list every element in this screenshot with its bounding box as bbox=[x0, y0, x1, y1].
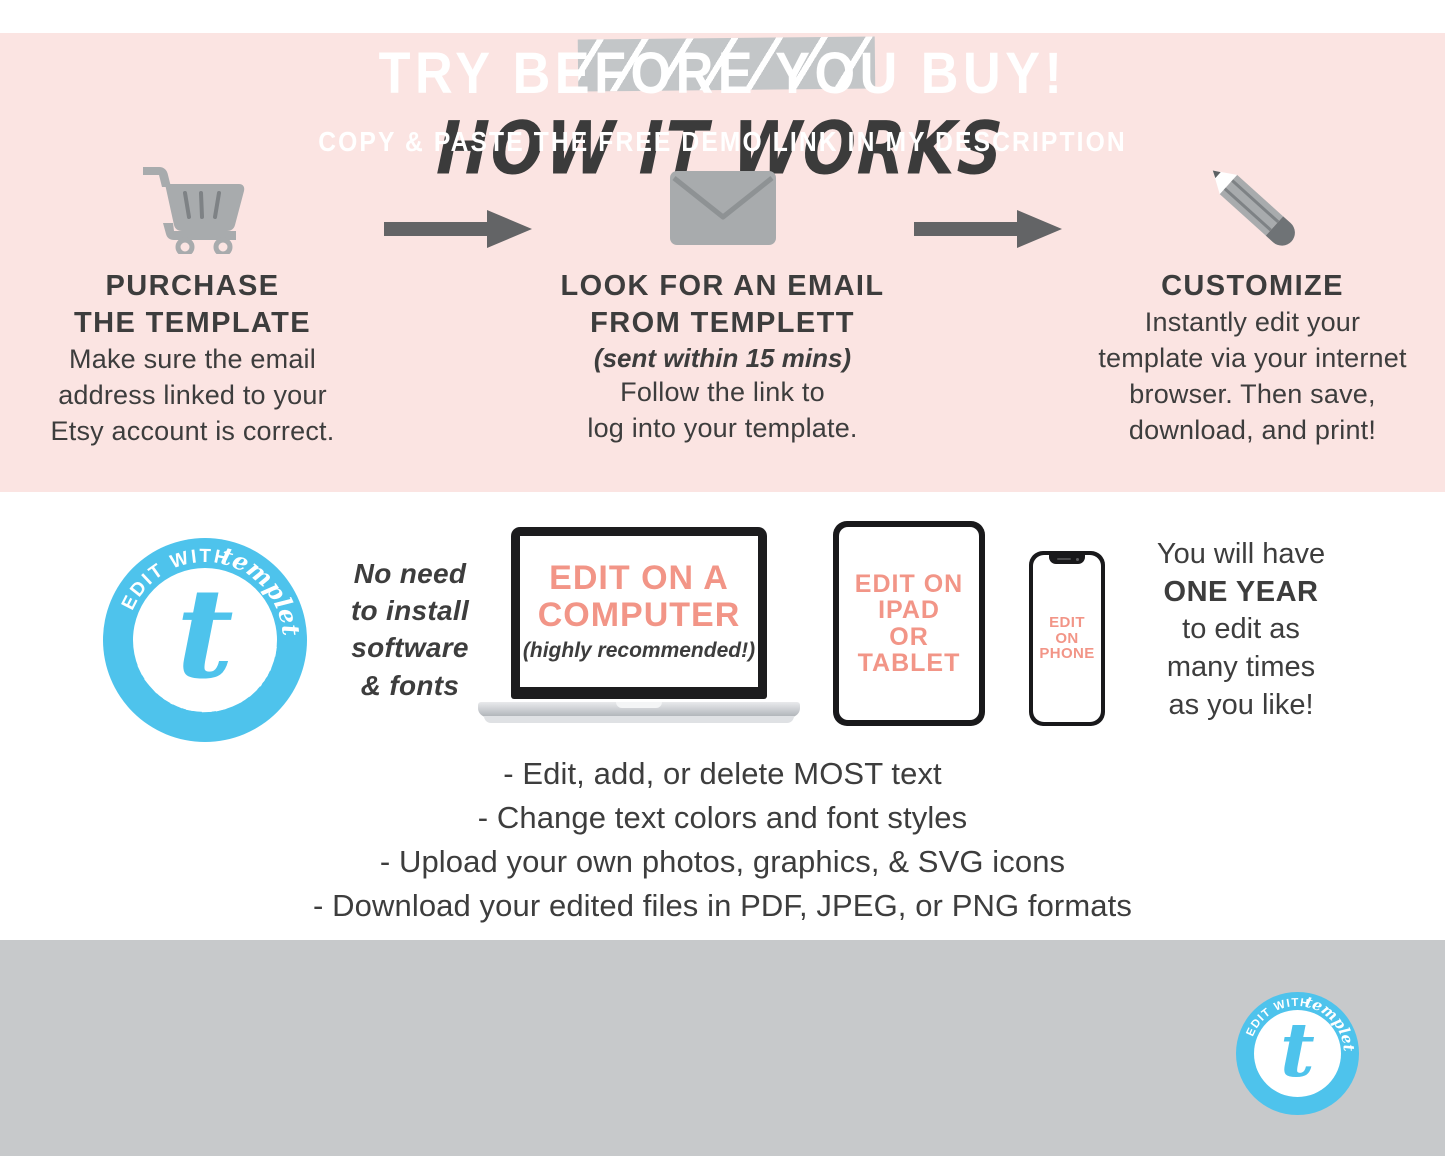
one-year-line: You will have bbox=[1125, 536, 1357, 574]
one-year-text: You will have ONE YEAR to edit as many t… bbox=[1125, 536, 1357, 724]
list-item: - Change text colors and font styles bbox=[0, 796, 1445, 840]
step-title: CUSTOMIZE bbox=[1063, 268, 1443, 305]
tablet-title-line: EDIT ON bbox=[855, 571, 963, 598]
badge-letter-t: t bbox=[103, 538, 307, 742]
laptop-subtitle: (highly recommended!) bbox=[523, 639, 755, 663]
step-title-line: LOOK FOR AN EMAIL bbox=[533, 268, 913, 305]
step-title-line: FROM TEMPLETT bbox=[533, 305, 913, 342]
tablet-title: EDIT ON IPAD OR TABLET bbox=[855, 571, 963, 677]
phone-title-line: EDIT bbox=[1039, 615, 1094, 631]
list-item: - Upload your own photos, graphics, & SV… bbox=[0, 840, 1445, 884]
phone-notch bbox=[1049, 555, 1085, 564]
tablet-mockup: EDIT ON IPAD OR TABLET bbox=[833, 521, 985, 726]
list-item: - Edit, add, or delete MOST text bbox=[0, 752, 1445, 796]
phone-camera-icon bbox=[1076, 558, 1079, 561]
step-note: (sent within 15 mins) bbox=[533, 342, 913, 375]
step-email: LOOK FOR AN EMAIL FROM TEMPLETT (sent wi… bbox=[533, 138, 913, 447]
pencil-icon bbox=[1063, 156, 1443, 260]
step-body-line: template via your internet bbox=[1063, 341, 1443, 377]
laptop-screen: EDIT ON A COMPUTER (highly recommended!) bbox=[520, 536, 758, 687]
phone-mockup: EDIT ON PHONE bbox=[1029, 551, 1105, 726]
steps-row: PURCHASE THE TEMPLATE Make sure the emai… bbox=[0, 138, 1445, 450]
step-body: Instantly edit your template via your in… bbox=[1063, 305, 1443, 449]
list-item: - Download your edited files in PDF, JPE… bbox=[0, 884, 1445, 928]
phone-speaker-icon bbox=[1057, 558, 1071, 560]
one-year-strong: ONE YEAR bbox=[1125, 574, 1357, 612]
no-install-line: to install bbox=[330, 592, 490, 629]
step-purchase: PURCHASE THE TEMPLATE Make sure the emai… bbox=[3, 138, 383, 450]
step-title: PURCHASE THE TEMPLATE bbox=[3, 268, 383, 342]
templett-badge-small: EDIT WITH templett EDITABLE TEMPLATE t bbox=[1236, 992, 1359, 1115]
try-before-you-buy-banner bbox=[0, 940, 1445, 1156]
step-body: Follow the link to log into your templat… bbox=[533, 375, 913, 447]
tablet-title-line: OR bbox=[855, 624, 963, 651]
step-title-line: THE TEMPLATE bbox=[3, 305, 383, 342]
step-body-line: download, and print! bbox=[1063, 413, 1443, 449]
phone-title: EDIT ON PHONE bbox=[1039, 615, 1094, 663]
envelope-icon bbox=[533, 156, 913, 260]
step-body-line: address linked to your bbox=[3, 378, 383, 414]
step-body-line: Instantly edit your bbox=[1063, 305, 1443, 341]
step-body-line: Etsy account is correct. bbox=[3, 414, 383, 450]
laptop-title-line: EDIT ON A bbox=[538, 560, 741, 596]
tablet-screen: EDIT ON IPAD OR TABLET bbox=[839, 527, 979, 720]
tablet-title-line: TABLET bbox=[855, 650, 963, 677]
footer-title: TRY BEFORE YOU BUY! bbox=[72, 40, 1373, 107]
step-title: LOOK FOR AN EMAIL FROM TEMPLETT bbox=[533, 268, 913, 342]
arrow-right-icon bbox=[384, 206, 532, 252]
no-install-line: No need bbox=[330, 555, 490, 592]
laptop-title-line: COMPUTER bbox=[538, 597, 741, 633]
shopping-cart-icon bbox=[3, 156, 383, 260]
step-body: Make sure the email address linked to yo… bbox=[3, 342, 383, 450]
badge-letter-t: t bbox=[1236, 992, 1359, 1115]
phone-title-line: PHONE bbox=[1039, 646, 1094, 662]
one-year-line: to edit as bbox=[1125, 611, 1357, 649]
laptop-title: EDIT ON A COMPUTER bbox=[538, 560, 741, 632]
one-year-line: as you like! bbox=[1125, 687, 1357, 725]
arrow-right-icon bbox=[914, 206, 1062, 252]
laptop-lid: EDIT ON A COMPUTER (highly recommended!) bbox=[511, 527, 767, 699]
laptop-foot bbox=[484, 716, 794, 723]
laptop-mockup: EDIT ON A COMPUTER (highly recommended!) bbox=[478, 527, 800, 725]
step-title-line: PURCHASE bbox=[3, 268, 383, 305]
no-install-line: & fonts bbox=[330, 667, 490, 704]
step-customize: CUSTOMIZE Instantly edit your template v… bbox=[1063, 138, 1443, 449]
tablet-title-line: IPAD bbox=[855, 597, 963, 624]
phone-screen: EDIT ON PHONE bbox=[1033, 555, 1101, 722]
footer-subtitle: COPY & PASTE THE FREE DEMO LINK IN MY DE… bbox=[87, 126, 1359, 158]
no-install-text: No need to install software & fonts bbox=[330, 555, 490, 704]
step-body-line: Make sure the email bbox=[3, 342, 383, 378]
step-body-line: Follow the link to bbox=[533, 375, 913, 411]
phone-title-line: ON bbox=[1039, 631, 1094, 647]
infographic-page: HOW IT WORKS bbox=[0, 0, 1445, 1156]
step-title-line: CUSTOMIZE bbox=[1063, 268, 1443, 305]
one-year-line: many times bbox=[1125, 649, 1357, 687]
step-body-line: log into your template. bbox=[533, 411, 913, 447]
laptop-base bbox=[478, 702, 800, 717]
no-install-line: software bbox=[330, 629, 490, 666]
templett-badge: EDIT WITH templett EDITABLE TEMPLATE t bbox=[103, 538, 307, 742]
features-list: - Edit, add, or delete MOST text - Chang… bbox=[0, 752, 1445, 928]
step-body-line: browser. Then save, bbox=[1063, 377, 1443, 413]
